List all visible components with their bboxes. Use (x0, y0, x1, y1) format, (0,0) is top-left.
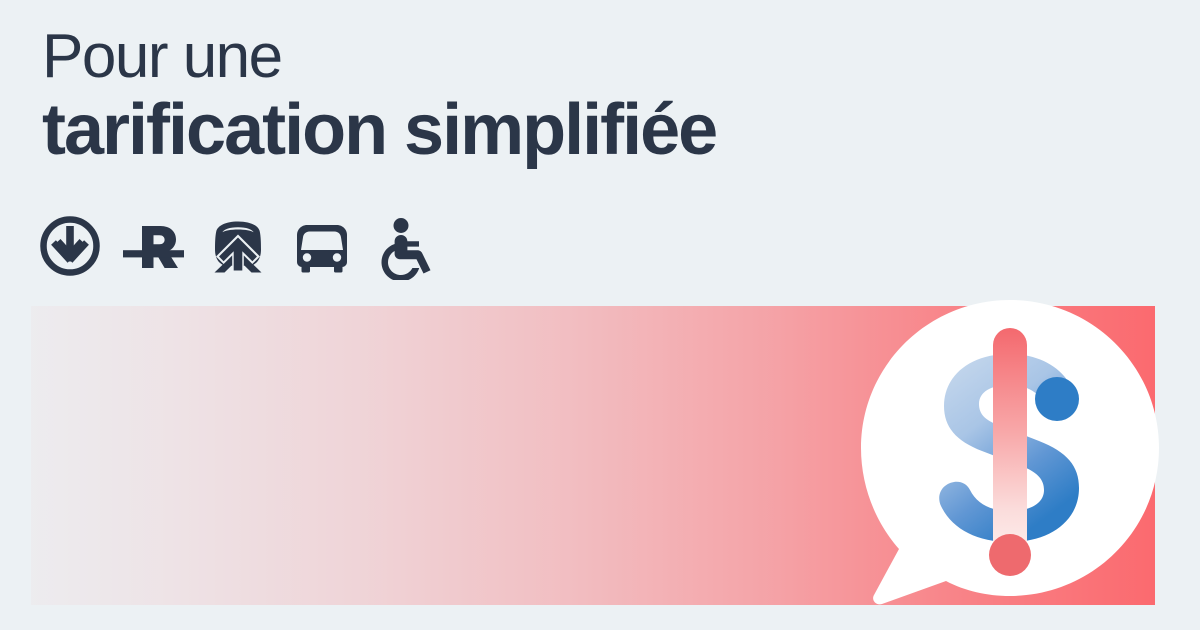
exclamation-bar (989, 328, 1031, 576)
bus-icon (288, 212, 356, 280)
rer-icon (120, 212, 188, 280)
headline-line-2: tarification simplifiée (42, 94, 1042, 166)
blue-dot (1035, 377, 1079, 421)
poster-canvas: Pour une tarification simplifiée (0, 0, 1200, 630)
metro-icon (36, 212, 104, 280)
train-icon (204, 212, 272, 280)
page-title: Pour une tarification simplifiée (42, 26, 1042, 166)
red-dot (989, 534, 1031, 576)
accessibility-icon (372, 212, 440, 280)
speech-bubble-dollar-illustration (846, 296, 1166, 608)
transit-modes-row (36, 208, 440, 284)
headline-line-1: Pour une (42, 26, 1042, 94)
